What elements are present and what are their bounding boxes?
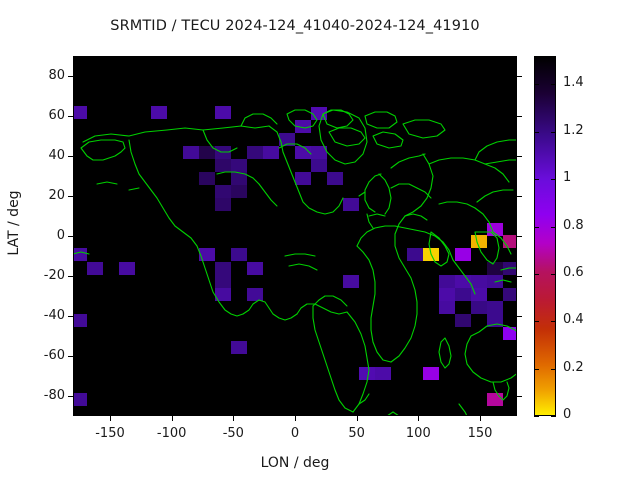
colorbar-tick <box>551 132 556 133</box>
coastline-overlay <box>73 56 517 416</box>
x-tick <box>295 56 296 61</box>
colorbar-tick <box>534 179 539 180</box>
colorbar-tick <box>551 84 556 85</box>
x-tick-label: -100 <box>142 426 202 441</box>
y-tick <box>517 396 522 397</box>
x-tick <box>418 56 419 61</box>
colorbar-tick <box>551 369 556 370</box>
x-tick <box>357 416 358 421</box>
y-tick <box>517 276 522 277</box>
x-axis-title: LON / deg <box>0 455 590 471</box>
colorbar-tick <box>534 321 539 322</box>
map-plot-area <box>73 56 517 416</box>
colorbar-tick <box>534 227 539 228</box>
x-tick-label: -50 <box>203 426 263 441</box>
y-tick <box>68 236 73 237</box>
colorbar-tick-label: 0.2 <box>563 360 613 375</box>
x-tick <box>480 56 481 61</box>
y-tick <box>68 196 73 197</box>
y-tick-label: -40 <box>19 308 65 323</box>
y-tick-label: 80 <box>19 68 65 83</box>
x-tick <box>295 416 296 421</box>
y-tick <box>517 356 522 357</box>
x-tick <box>233 416 234 421</box>
y-tick <box>68 276 73 277</box>
colorbar-tick-label: 0.6 <box>563 265 613 280</box>
y-axis-title: LAT / deg <box>6 173 22 273</box>
x-tick-label: 0 <box>265 426 325 441</box>
y-tick <box>68 156 73 157</box>
y-tick <box>68 356 73 357</box>
y-tick-label: 40 <box>19 148 65 163</box>
colorbar-tick-label: 1 <box>563 170 613 185</box>
y-tick <box>68 116 73 117</box>
y-tick <box>68 76 73 77</box>
x-tick <box>172 416 173 421</box>
y-tick-label: 60 <box>19 108 65 123</box>
x-tick-label: 100 <box>388 426 448 441</box>
colorbar-tick <box>551 321 556 322</box>
colorbar-tick-label: 0.8 <box>563 218 613 233</box>
y-tick <box>68 316 73 317</box>
colorbar-tick-label: 1.4 <box>563 75 613 90</box>
y-tick-label: -80 <box>19 388 65 403</box>
chart-title: SRMTID / TECU 2024-124_41040-2024-124_41… <box>0 18 590 34</box>
chart-root: SRMTID / TECU 2024-124_41040-2024-124_41… <box>0 0 640 480</box>
colorbar-tick <box>551 274 556 275</box>
colorbar-tick-label: 0 <box>563 407 613 422</box>
colorbar-tick-label: 0.4 <box>563 312 613 327</box>
x-tick <box>233 56 234 61</box>
colorbar-tick <box>551 416 556 417</box>
colorbar-tick <box>534 369 539 370</box>
x-tick <box>110 416 111 421</box>
colorbar-tick <box>534 84 539 85</box>
colorbar-tick <box>551 179 556 180</box>
x-tick <box>480 416 481 421</box>
colorbar <box>534 56 556 416</box>
colorbar-tick <box>534 274 539 275</box>
x-tick <box>418 416 419 421</box>
x-tick-label: 50 <box>327 426 387 441</box>
x-tick <box>172 56 173 61</box>
colorbar-tick-label: 1.2 <box>563 123 613 138</box>
colorbar-tick <box>534 416 539 417</box>
colorbar-gradient <box>535 57 555 415</box>
colorbar-tick <box>551 227 556 228</box>
y-tick <box>517 116 522 117</box>
x-tick-label: -150 <box>80 426 140 441</box>
y-tick-label: 20 <box>19 188 65 203</box>
y-tick-label: 0 <box>19 228 65 243</box>
y-tick-label: -20 <box>19 268 65 283</box>
x-tick-label: 150 <box>450 426 510 441</box>
y-tick <box>517 316 522 317</box>
x-tick <box>357 56 358 61</box>
y-tick-label: -60 <box>19 348 65 363</box>
y-tick <box>68 396 73 397</box>
y-tick <box>517 236 522 237</box>
colorbar-tick <box>534 132 539 133</box>
y-tick <box>517 76 522 77</box>
x-tick <box>110 56 111 61</box>
y-tick <box>517 156 522 157</box>
y-tick <box>517 196 522 197</box>
